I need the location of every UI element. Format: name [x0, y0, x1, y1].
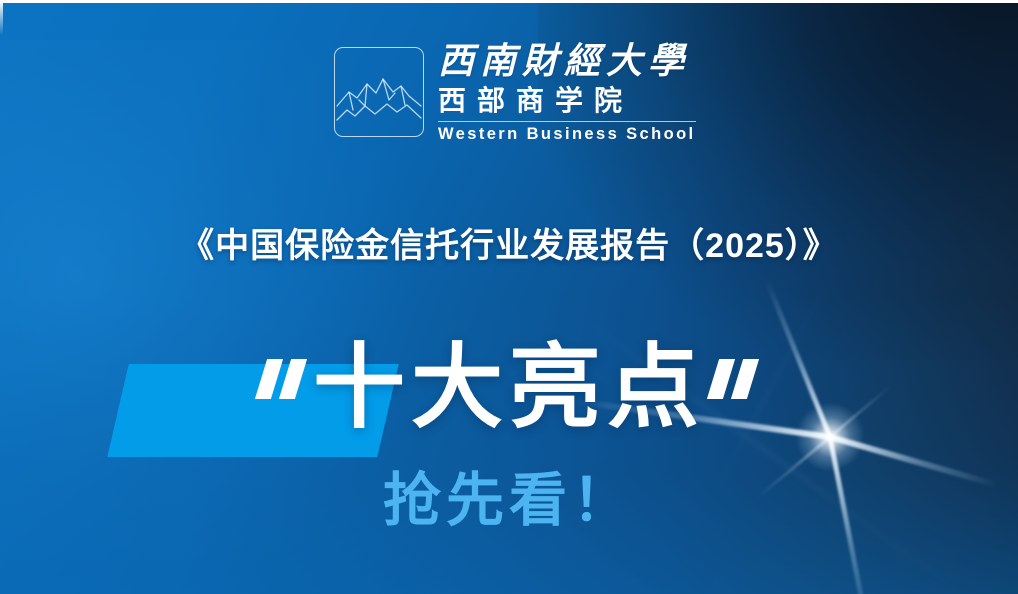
report-title: 《中国保险金信托行业发展报告（2025）》	[0, 218, 1018, 267]
logo-wordmark: 西南財經大學 西部商学院 Western Business School	[438, 42, 696, 142]
subtitle-text: 抢先看！	[0, 472, 1018, 530]
school-name-cn: 西部商学院	[438, 81, 696, 118]
school-name-en: Western Business School	[438, 126, 696, 143]
mountain-range-icon	[334, 47, 424, 137]
university-name-cn: 西南財經大學	[438, 42, 696, 81]
institution-logo: 西南財經大學 西部商学院 Western Business School	[334, 42, 696, 142]
top-edge-border	[0, 0, 1018, 3]
headline-text: 十大亮点	[313, 342, 705, 434]
left-edge-border	[0, 0, 3, 594]
quote-open-icon	[255, 355, 309, 421]
quote-close-icon	[709, 355, 763, 421]
logo-divider	[438, 121, 696, 122]
headline-group: 十大亮点	[0, 333, 1018, 443]
promotional-poster: 西南財經大學 西部商学院 Western Business School 《中国…	[0, 0, 1018, 594]
